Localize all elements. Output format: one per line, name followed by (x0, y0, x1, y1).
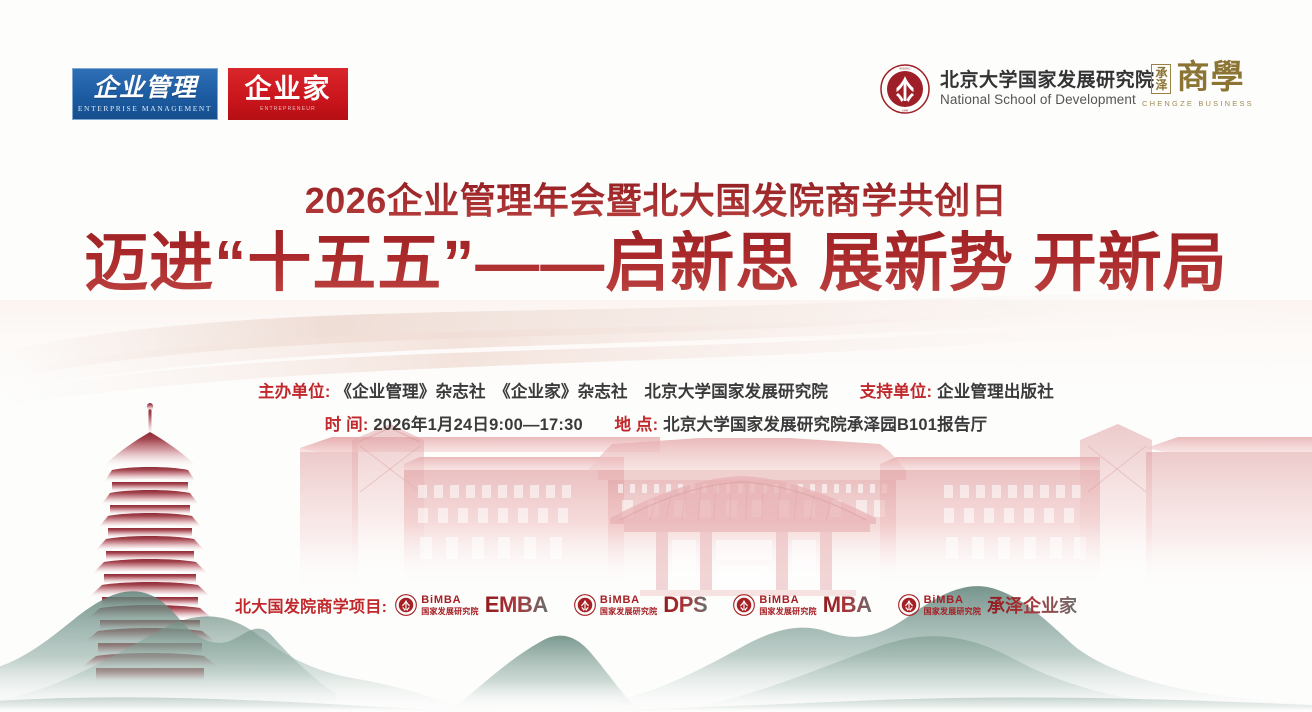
svg-text:PEKING: PEKING (900, 67, 912, 71)
chengze-big-chars: 商學 (1176, 62, 1244, 95)
place-label: 地 点: (614, 416, 658, 434)
poster-canvas: 企业管理 ENTERPRISE MANAGEMENT 企业家 ENTREPREN… (0, 0, 1312, 712)
bimba-brand-line-2: 国家发展研究院 (600, 608, 657, 616)
header-logo-row: 企业管理 ENTERPRISE MANAGEMENT 企业家 ENTREPREN… (0, 0, 1312, 150)
program-item-mba[interactable]: BiMBA 国家发展研究院 MBA (733, 592, 871, 618)
program-item-emba[interactable]: BiMBA 国家发展研究院 EMBA (395, 592, 548, 618)
logo-enterprise-management: 企业管理 ENTERPRISE MANAGEMENT (72, 68, 218, 120)
bimba-wordmark: BiMBA 国家发展研究院 (600, 595, 657, 616)
time-value: 2026年1月24日9:00—17:30 (373, 416, 582, 434)
nsd-name-cn: 北京大学国家发展研究院 (940, 70, 1155, 92)
time-label: 时 间: (325, 416, 369, 434)
event-main-title: 迈进“十五五”——启新思 展新势 开新局 (0, 230, 1312, 297)
pku-seal-icon: PEKING 1898 (880, 64, 930, 114)
supporter-label: 支持单位: (860, 383, 933, 401)
organizer-line: 主办单位: 《企业管理》杂志社 《企业家》杂志社 北京大学国家发展研究院 支持单… (0, 378, 1312, 402)
chengze-stack: 承 泽 (1151, 64, 1171, 94)
nsd-text-block: 北京大学国家发展研究院 National School of Developme… (940, 70, 1155, 107)
logo-chengze-business: 承 泽 商學 CHENGZE BUSINESS (1142, 62, 1254, 108)
program-item-dps[interactable]: BiMBA 国家发展研究院 DPS (574, 592, 707, 618)
chengze-mark: 承 泽 商學 (1151, 62, 1244, 95)
bimba-brand-line-1: BiMBA (421, 595, 478, 606)
chengze-char-2: 泽 (1155, 79, 1167, 91)
logo-national-school-of-development: PEKING 1898 北京大学国家发展研究院 National School … (880, 64, 1155, 114)
place-value: 北京大学国家发展研究院承泽园B101报告厅 (663, 416, 987, 434)
program-item-chengze-entrepreneur[interactable]: BiMBA 国家发展研究院 承泽企业家 (898, 592, 1077, 618)
bimba-wordmark: BiMBA 国家发展研究院 (421, 595, 478, 616)
bimba-brand-line-2: 国家发展研究院 (924, 608, 981, 616)
bimba-seal-icon (574, 594, 596, 616)
organizer-label: 主办单位: (258, 383, 331, 401)
bimba-brand-line-1: BiMBA (924, 595, 981, 606)
program-logo-row: 北大国发院商学项目: BiMBA 国家发展研究院 EMBA (0, 592, 1312, 618)
program-name-dps: DPS (663, 592, 707, 618)
chengze-en: CHENGZE BUSINESS (1142, 99, 1254, 108)
bimba-brand-line-2: 国家发展研究院 (421, 608, 478, 616)
programs-label: 北大国发院商学项目: (235, 593, 387, 617)
bimba-seal-icon (898, 594, 920, 616)
nsd-name-en: National School of Development (940, 92, 1155, 108)
organizer-value: 《企业管理》杂志社 《企业家》杂志社 北京大学国家发展研究院 (335, 383, 828, 401)
program-name-emba: EMBA (485, 592, 548, 618)
logo-enterprise-management-cn: 企业管理 (93, 76, 197, 101)
bimba-brand-line-1: BiMBA (759, 595, 816, 606)
bimba-wordmark: BiMBA 国家发展研究院 (759, 595, 816, 616)
program-name-mba: MBA (823, 592, 872, 618)
logo-enterprise-management-en: ENTERPRISE MANAGEMENT (78, 104, 212, 113)
logo-entrepreneur-cn: 企业家 (245, 76, 332, 103)
logo-entrepreneur: 企业家 ENTREPRENEUR (228, 68, 348, 120)
chengze-char-1: 承 (1155, 67, 1167, 79)
svg-text:1898: 1898 (902, 109, 909, 113)
bimba-seal-icon (733, 594, 755, 616)
event-subtitle: 2026企业管理年会暨北大国发院商学共创日 (0, 172, 1312, 224)
bimba-seal-icon (395, 594, 417, 616)
time-place-line: 时 间: 2026年1月24日9:00—17:30 地 点: 北京大学国家发展研… (0, 411, 1312, 435)
logo-entrepreneur-en: ENTREPRENEUR (260, 106, 316, 112)
bimba-brand-line-1: BiMBA (600, 595, 657, 606)
bimba-brand-line-2: 国家发展研究院 (759, 608, 816, 616)
program-name-chengze-entrepreneur: 承泽企业家 (987, 592, 1077, 618)
supporter-value: 企业管理出版社 (937, 383, 1054, 401)
bimba-wordmark: BiMBA 国家发展研究院 (924, 595, 981, 616)
